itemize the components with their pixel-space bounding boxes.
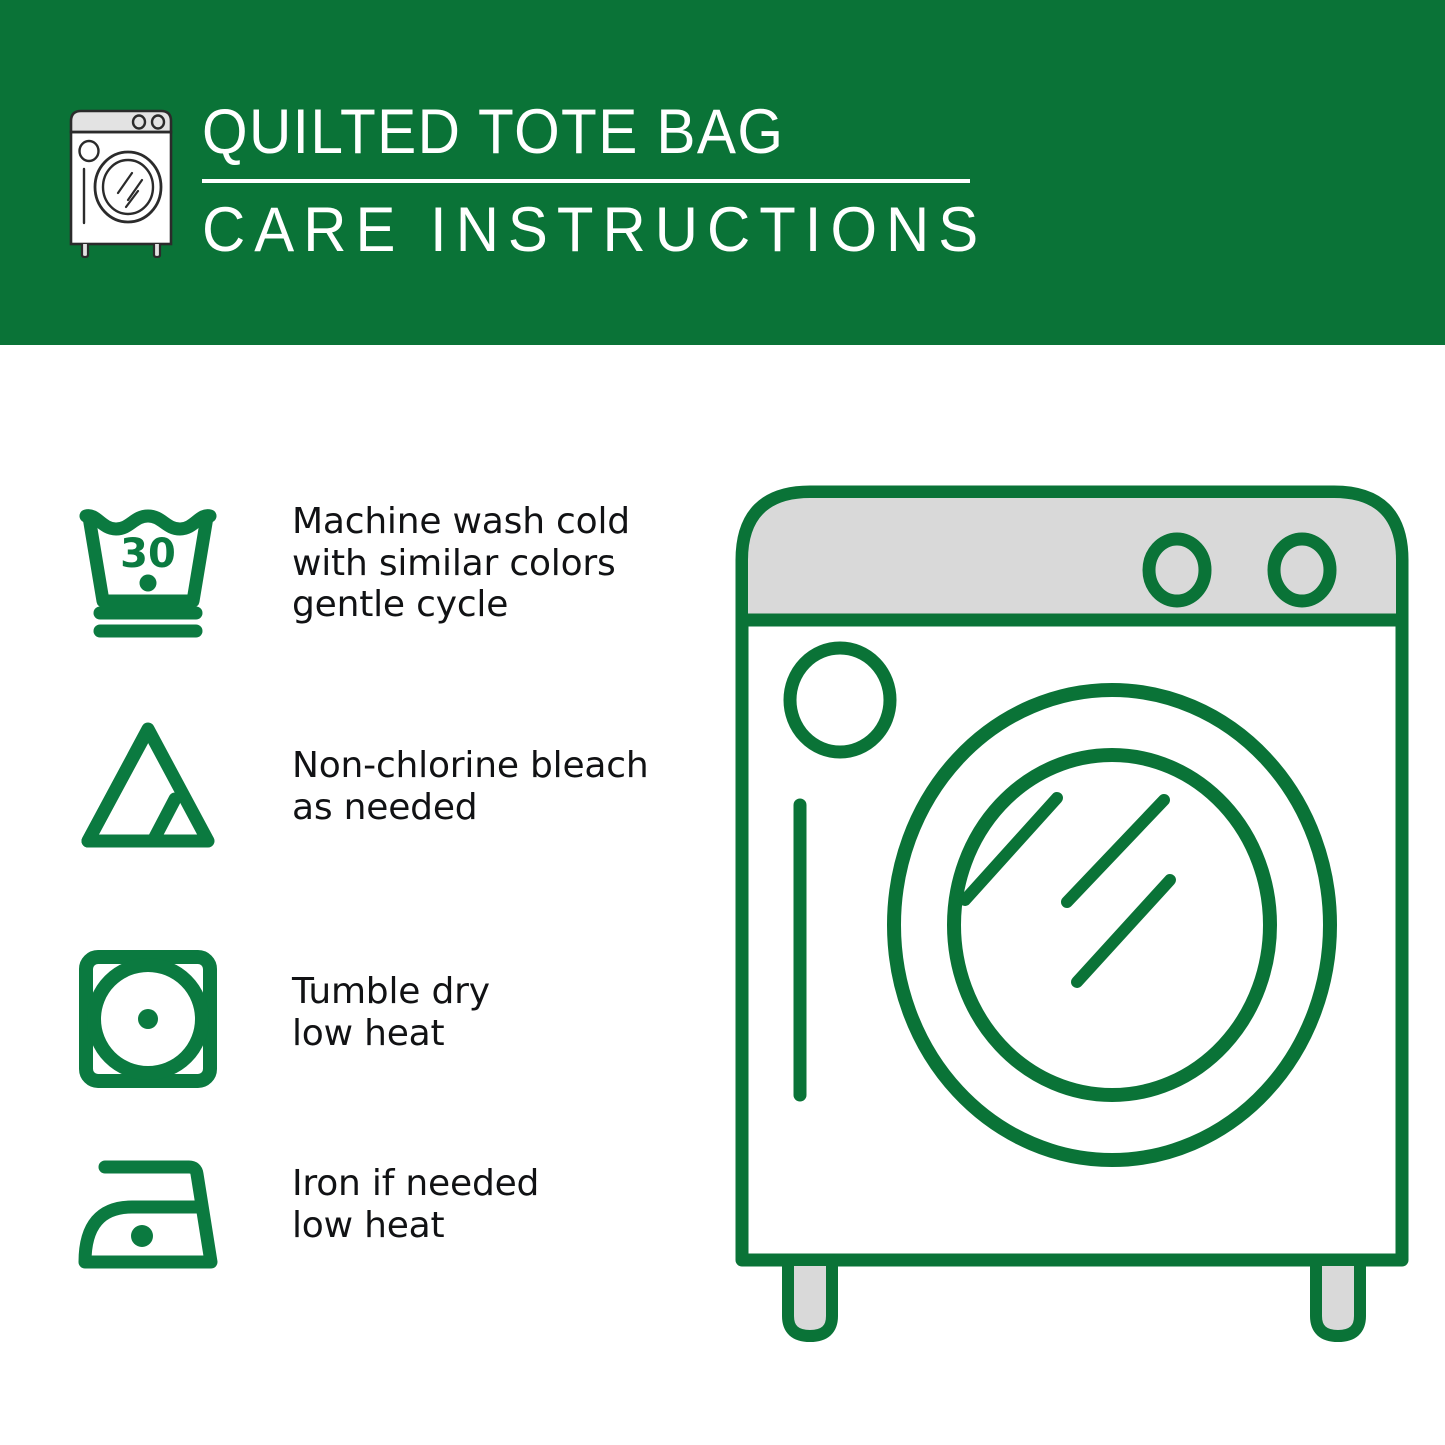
- iron-low-heat-dot: [131, 1225, 153, 1247]
- leg-right: [1316, 1260, 1360, 1336]
- washing-machine-illustration: [722, 470, 1422, 1370]
- care-instruction-text: Machine wash cold with similar colors ge…: [292, 495, 630, 626]
- header-banner: QUILTED TOTE BAG CARE INSTRUCTIONS: [0, 0, 1445, 345]
- care-text-line: low heat: [292, 1205, 539, 1247]
- wash-gentle-dot: [140, 575, 157, 592]
- care-text-line: Machine wash cold: [292, 501, 630, 543]
- care-instruction-row: Iron if needed low heat: [72, 1145, 692, 1297]
- machine-wash-30-gentle-icon: 30: [72, 495, 224, 647]
- care-instruction-list: 30 Machine wash cold with similar colors…: [0, 345, 700, 1445]
- care-instruction-row: Tumble dry low heat: [72, 943, 692, 1095]
- tumble-dry-low-dot: [138, 1009, 158, 1029]
- care-text-line: as needed: [292, 787, 648, 829]
- leg-left: [788, 1260, 832, 1336]
- iron-low-heat-icon: [72, 1145, 224, 1297]
- care-text-line: Tumble dry: [292, 971, 490, 1013]
- page-subtitle: CARE INSTRUCTIONS: [202, 197, 987, 263]
- care-text-line: gentle cycle: [292, 584, 630, 626]
- washing-machine-icon: [62, 103, 180, 258]
- header-content: QUILTED TOTE BAG CARE INSTRUCTIONS: [62, 95, 1029, 263]
- care-text-line: low heat: [292, 1013, 490, 1055]
- tumble-dry-low-icon: [72, 943, 224, 1095]
- care-text-line: Iron if needed: [292, 1163, 539, 1205]
- care-instruction-text: Tumble dry low heat: [292, 943, 490, 1054]
- page-title: QUILTED TOTE BAG: [202, 97, 971, 167]
- care-text-line: with similar colors: [292, 543, 630, 585]
- wash-temperature-label: 30: [120, 531, 176, 577]
- care-text-line: Non-chlorine bleach: [292, 745, 648, 787]
- non-chlorine-bleach-icon: [72, 715, 224, 867]
- title-divider: [202, 179, 970, 183]
- care-instruction-text: Non-chlorine bleach as needed: [292, 715, 648, 828]
- care-instruction-row: Non-chlorine bleach as needed: [72, 715, 692, 867]
- care-instruction-row: 30 Machine wash cold with similar colors…: [72, 495, 692, 647]
- care-instruction-text: Iron if needed low heat: [292, 1145, 539, 1246]
- title-block: QUILTED TOTE BAG CARE INSTRUCTIONS: [202, 95, 1029, 263]
- front-load-washing-machine-illustration: [722, 470, 1422, 1370]
